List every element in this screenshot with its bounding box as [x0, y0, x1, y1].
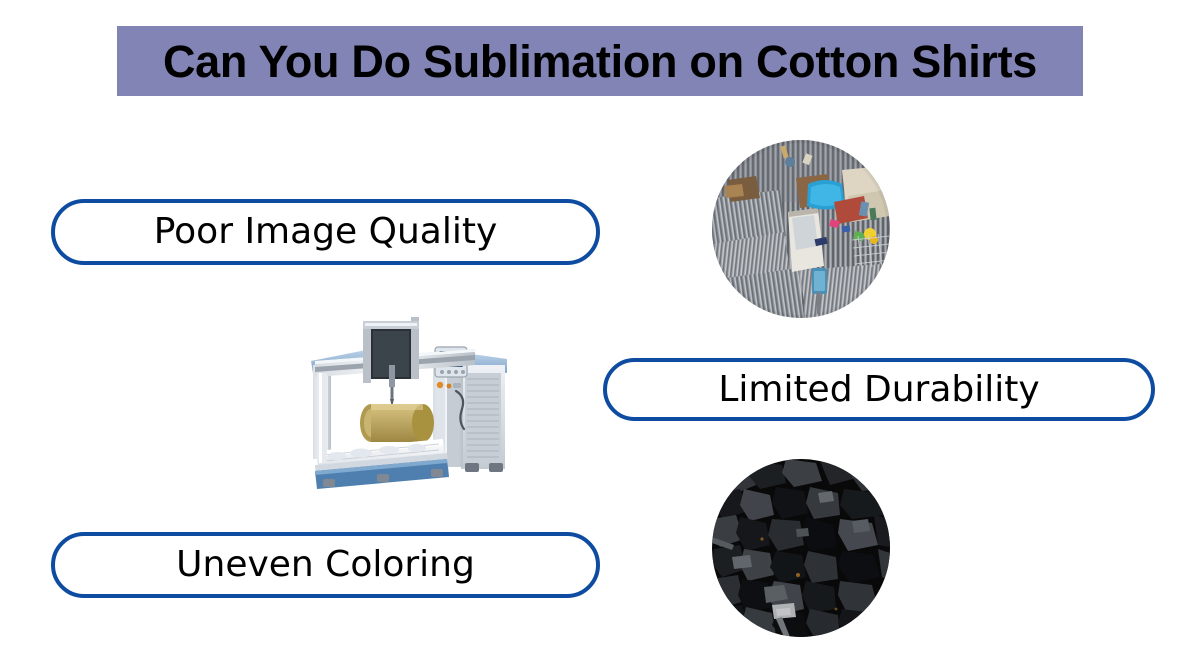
- title-banner: Can You Do Sublimation on Cotton Shirts: [117, 26, 1083, 96]
- pill-label: Limited Durability: [718, 372, 1039, 408]
- pill-poor-image-quality[interactable]: Poor Image Quality: [51, 199, 600, 265]
- charcoal-photo: [712, 459, 890, 637]
- pill-uneven-coloring[interactable]: Uneven Coloring: [51, 532, 600, 598]
- page-title: Can You Do Sublimation on Cotton Shirts: [163, 39, 1037, 84]
- industrial-gantry-machine: [293, 303, 525, 489]
- slide-canvas: Can You Do Sublimation on Cotton Shirts …: [0, 0, 1200, 650]
- pill-limited-durability[interactable]: Limited Durability: [603, 358, 1155, 421]
- pill-label: Poor Image Quality: [154, 214, 498, 250]
- scrap-yard-photo: [712, 140, 890, 318]
- pill-label: Uneven Coloring: [176, 547, 475, 583]
